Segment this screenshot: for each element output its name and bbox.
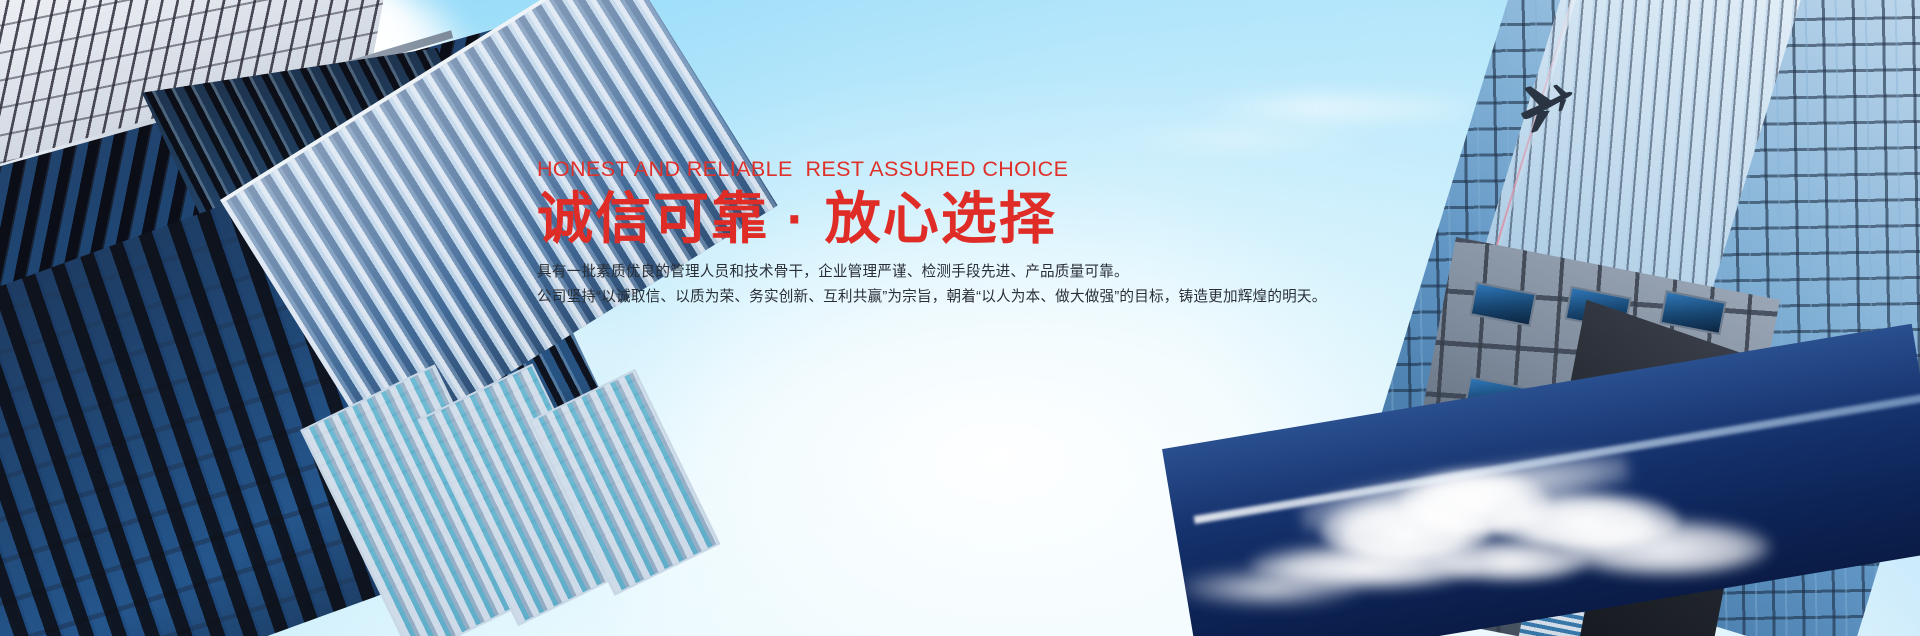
tower-window (1469, 282, 1536, 327)
hero-banner: HONEST AND RELIABLE REST ASSURED CHOICE … (0, 0, 1920, 636)
eyebrow-text: HONEST AND RELIABLE REST ASSURED CHOICE (537, 158, 1357, 182)
cloud (1100, 128, 1400, 148)
body-line-2: 公司坚持“以诚取信、以质为荣、务实创新、互利共赢”为宗旨，朝着“以人为本、做大做… (537, 285, 1357, 310)
cloud (1180, 570, 1360, 604)
page-title: 诚信可靠 · 放心选择 (537, 188, 1357, 251)
cloud (1560, 520, 1770, 574)
hero-copy-block: HONEST AND RELIABLE REST ASSURED CHOICE … (537, 158, 1357, 310)
body-line-1: 具有一批素质优良的管理人员和技术骨干，企业管理严谨、检测手段先进、产品质量可靠。 (537, 260, 1357, 285)
